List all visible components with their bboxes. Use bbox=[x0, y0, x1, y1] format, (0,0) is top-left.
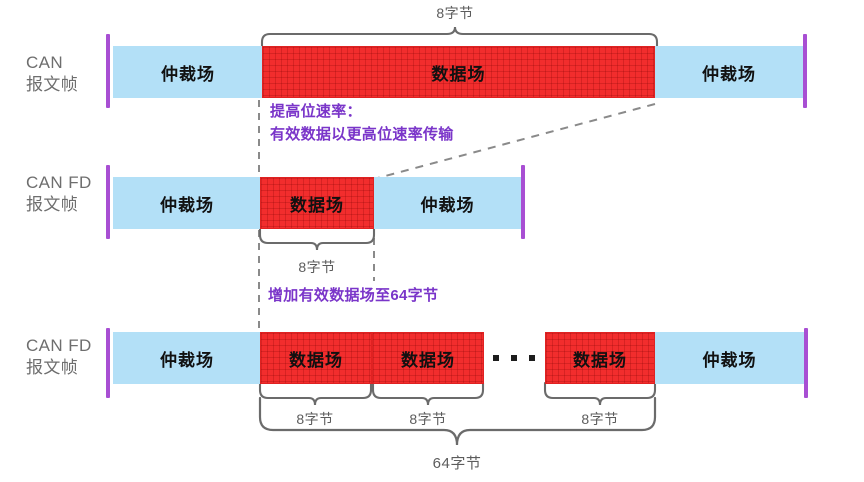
brace-row1-top bbox=[262, 27, 657, 46]
row3-data-field-2-label: 数据场 bbox=[372, 332, 484, 384]
row3-brace-caption-3: 8字节 bbox=[560, 409, 640, 429]
can-fd-frame-diagram: CAN 报文帧 仲裁场 数据场 仲裁场 8字节 提高位速率： 有效数据以更高位速… bbox=[0, 0, 864, 482]
row-label-can-frame: CAN 报文帧 bbox=[26, 52, 78, 96]
row3-arbitration-right-label: 仲裁场 bbox=[655, 332, 804, 384]
frame-start-marker-row2 bbox=[106, 165, 110, 239]
annotation-bitrate-note: 提高位速率： 有效数据以更高位速率传输 bbox=[270, 101, 600, 146]
row-label-can-fd-frame-64: CAN FD 报文帧 bbox=[26, 335, 92, 379]
row3-data-field-1-label: 数据场 bbox=[260, 332, 372, 384]
brace-row3-seg2 bbox=[373, 383, 483, 405]
row1-arbitration-left-label: 仲裁场 bbox=[113, 46, 263, 98]
row2-arbitration-left-label: 仲裁场 bbox=[113, 177, 261, 229]
ellipsis-dot bbox=[493, 355, 499, 361]
row1-arbitration-right-label: 仲裁场 bbox=[655, 46, 803, 98]
row-label-can-fd-frame-8: CAN FD 报文帧 bbox=[26, 172, 92, 216]
frame-end-marker-row3 bbox=[804, 328, 808, 398]
frame-start-marker-row3 bbox=[106, 328, 110, 398]
frame-end-marker-row2 bbox=[521, 165, 525, 239]
brace-row3-seg1 bbox=[260, 383, 371, 405]
row3-arbitration-left-label: 仲裁场 bbox=[113, 332, 261, 384]
row2-data-field-label: 数据场 bbox=[260, 177, 374, 229]
row3-ellipsis-dots bbox=[493, 355, 535, 361]
row1-data-field-label: 数据场 bbox=[262, 46, 655, 98]
frame-end-marker-row1 bbox=[803, 34, 807, 108]
ellipsis-dot bbox=[511, 355, 517, 361]
ellipsis-dot bbox=[529, 355, 535, 361]
row3-brace-caption-1: 8字节 bbox=[275, 409, 355, 429]
row3-brace-caption-2: 8字节 bbox=[388, 409, 468, 429]
row2-bottom-brace-caption: 8字节 bbox=[277, 257, 357, 277]
row2-arbitration-right-label: 仲裁场 bbox=[374, 177, 521, 229]
brace-row2-bottom bbox=[260, 228, 374, 250]
row1-top-brace-caption: 8字节 bbox=[415, 3, 495, 23]
frame-start-marker-row1 bbox=[106, 34, 110, 108]
row3-data-field-3-label: 数据场 bbox=[545, 332, 655, 384]
brace-row3-seg3 bbox=[545, 383, 655, 405]
row3-total-brace-caption: 64字节 bbox=[417, 452, 497, 473]
annotation-payload-note: 增加有效数据场至64字节 bbox=[268, 285, 608, 308]
